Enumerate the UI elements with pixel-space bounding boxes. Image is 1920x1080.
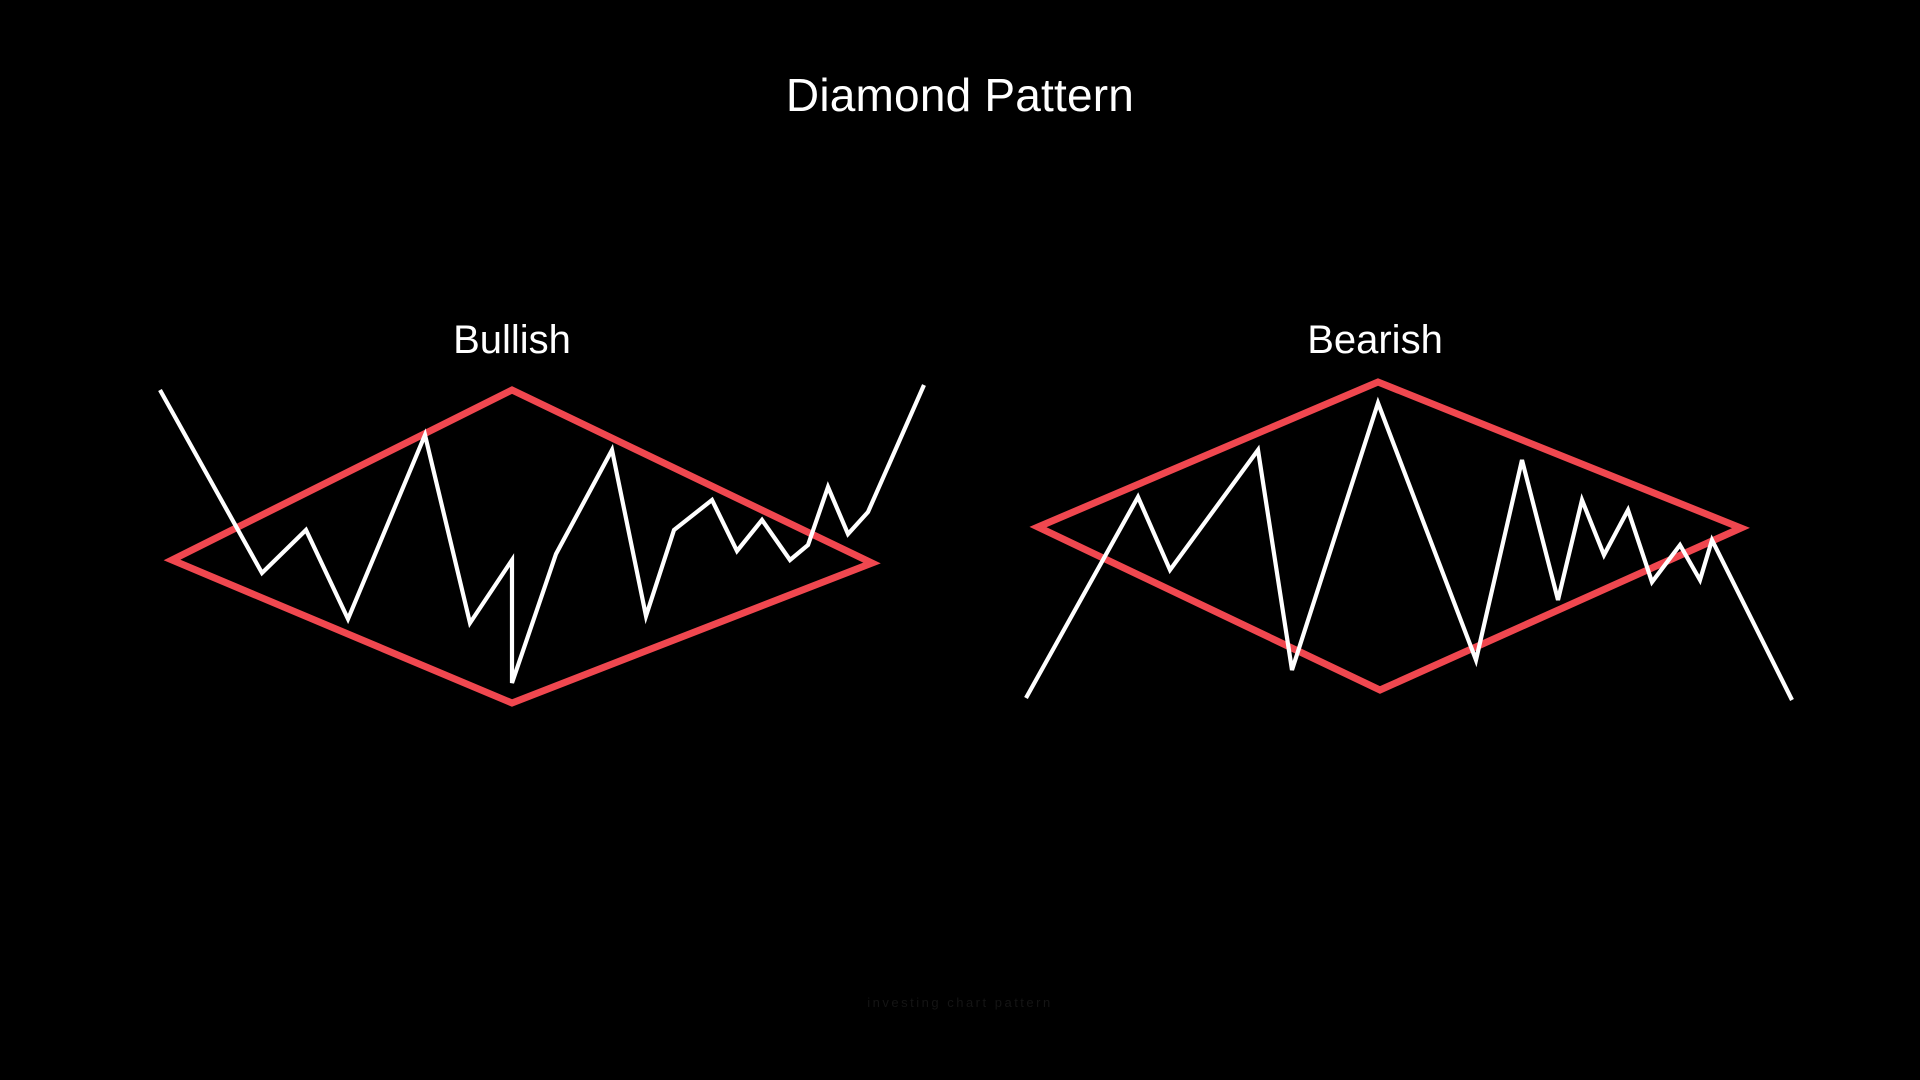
price-line-bearish xyxy=(1026,403,1792,700)
panel-label-bearish: Bearish xyxy=(1307,320,1443,360)
diamond-outline-bearish xyxy=(1038,382,1741,690)
chart-canvas: Diamond Pattern Bullish Bearish investin… xyxy=(0,0,1920,1080)
diamond-outline-bullish xyxy=(172,390,872,703)
pattern-figures xyxy=(0,0,1920,1080)
price-line-bullish xyxy=(160,385,924,683)
panel-label-bullish: Bullish xyxy=(453,320,571,360)
watermark-text: investing chart pattern xyxy=(0,996,1920,1009)
page-title: Diamond Pattern xyxy=(0,72,1920,118)
